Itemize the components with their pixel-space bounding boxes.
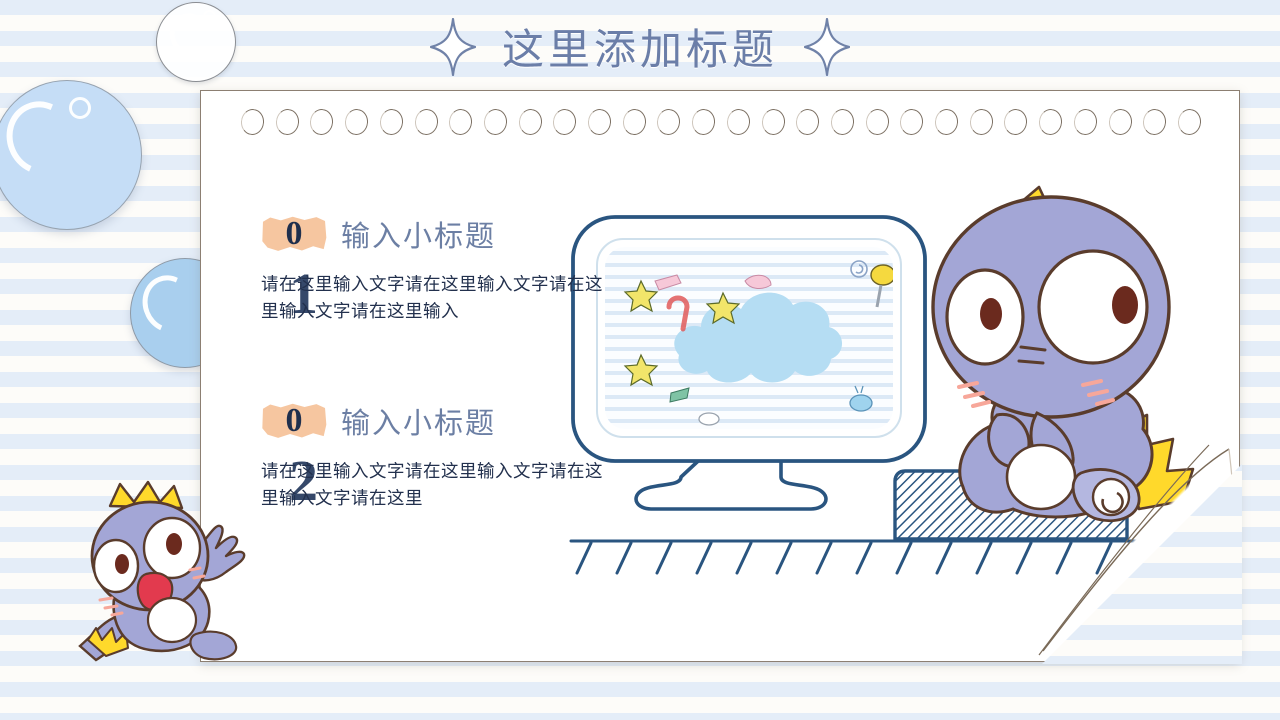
punch-hole — [864, 108, 890, 136]
mini-dino-belly — [148, 598, 196, 642]
punch-hole — [968, 108, 994, 136]
card-inner: 0 输入小标题 1 请在这里输入文字请在这里输入文字请在这里输入文字请在这里输入… — [201, 91, 1239, 661]
punch-hole — [1177, 108, 1203, 136]
punch-hole — [274, 108, 300, 136]
block-heading-row: 0 输入小标题 — [261, 396, 603, 446]
punch-hole — [517, 108, 543, 136]
block-number-badge: 0 — [261, 399, 327, 443]
block-body-wrap: 1 请在这里输入文字请在这里输入文字请在这里输入文字请在这里输入 — [261, 271, 603, 325]
punch-hole — [344, 108, 370, 136]
mini-dino-foot — [190, 632, 236, 660]
monitor-screen — [605, 247, 919, 429]
punch-hole — [1107, 108, 1133, 136]
note-paper-card: 0 输入小标题 1 请在这里输入文字请在这里输入文字请在这里输入文字请在这里输入… — [200, 90, 1240, 662]
punch-hole — [483, 108, 509, 136]
bubble-highlight — [134, 267, 204, 340]
block-body-text: 请在这里输入文字请在这里输入文字请在这里输入文字请在这里输入 — [261, 271, 603, 325]
screen-icon-cup — [699, 413, 719, 425]
block-heading: 输入小标题 — [341, 213, 496, 255]
block-body-wrap: 2 请在这里输入文字请在这里输入文字请在这里输入文字请在这里 — [261, 458, 603, 512]
punch-hole — [1142, 108, 1168, 136]
punch-hole — [309, 108, 335, 136]
punch-hole — [448, 108, 474, 136]
punch-hole — [1073, 108, 1099, 136]
bubble-white-small — [156, 2, 236, 82]
content-block-2: 0 输入小标题 2 请在这里输入文字请在这里输入文字请在这里输入文字请在这里 — [261, 396, 603, 512]
block-body-text: 请在这里输入文字请在这里输入文字请在这里输入文字请在这里 — [261, 458, 603, 512]
punch-hole — [621, 108, 647, 136]
content-block-1: 0 输入小标题 1 请在这里输入文字请在这里输入文字请在这里输入文字请在这里输入 — [261, 209, 603, 325]
dinosaur-small-waving — [72, 470, 268, 665]
bubble-dot — [69, 97, 91, 119]
punch-hole — [656, 108, 682, 136]
page-title: 这里添加标题 — [502, 16, 778, 77]
punch-hole — [1038, 108, 1064, 136]
mini-dino-pupil-right — [166, 533, 182, 555]
block-heading-row: 0 输入小标题 — [261, 209, 603, 259]
block-number: 0 — [286, 402, 303, 440]
punch-hole — [552, 108, 578, 136]
punch-hole — [1003, 108, 1029, 136]
dino-pupil-right — [1112, 286, 1138, 324]
block-number: 0 — [286, 215, 303, 253]
mini-dino-pupil-left — [115, 554, 129, 574]
sparkle-star-icon — [804, 18, 850, 76]
slide-canvas: 这里添加标题 — [0, 0, 1280, 720]
punch-hole — [899, 108, 925, 136]
punch-hole — [726, 108, 752, 136]
punch-hole — [413, 108, 439, 136]
punch-hole — [587, 108, 613, 136]
punch-hole — [760, 108, 786, 136]
punch-hole — [795, 108, 821, 136]
punch-hole — [240, 108, 266, 136]
bubble-dot — [203, 10, 216, 23]
block-heading: 输入小标题 — [341, 400, 496, 442]
bubble-blue-large — [0, 80, 142, 230]
punch-hole-row — [241, 107, 1201, 137]
punch-hole — [830, 108, 856, 136]
punch-hole — [379, 108, 405, 136]
sparkle-star-icon — [430, 18, 476, 76]
punch-hole — [691, 108, 717, 136]
block-number-badge: 0 — [261, 212, 327, 256]
dino-pupil-left — [980, 298, 1002, 330]
punch-hole — [934, 108, 960, 136]
